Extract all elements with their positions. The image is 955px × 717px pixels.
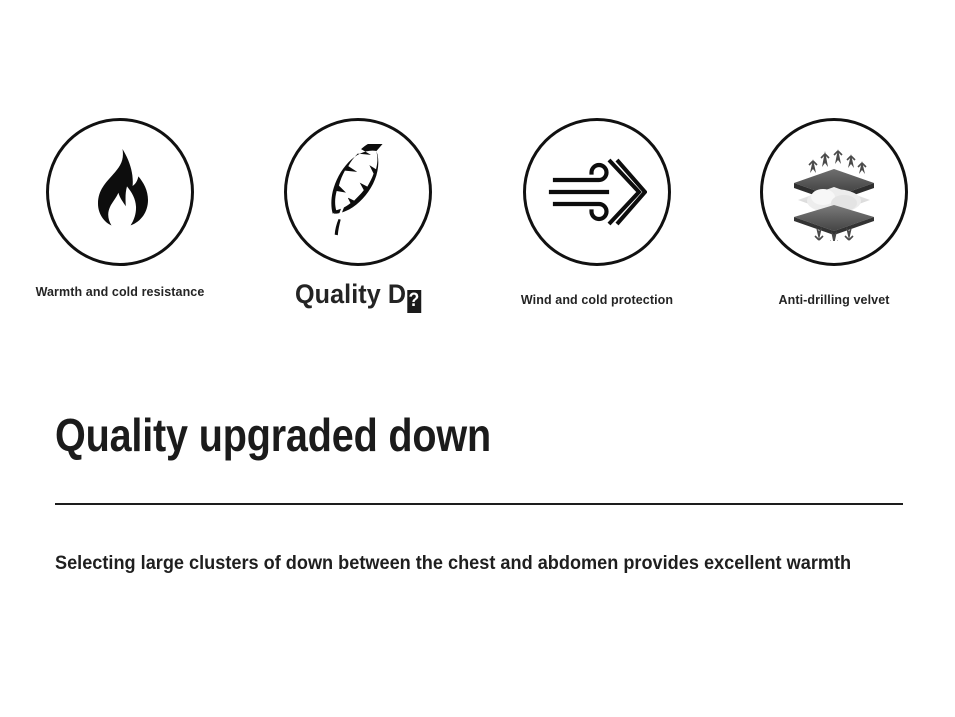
feature-label: Warmth and cold resistance: [30, 284, 210, 301]
flame-icon: [81, 147, 159, 237]
page-title: Quality upgraded down: [55, 408, 491, 462]
feature-icon-circle: [523, 118, 671, 266]
feature-icon-row: Warmth and cold resistance Quality D?: [0, 118, 955, 348]
feature-icon-circle: [284, 118, 432, 266]
feature-label: Quality D?: [256, 276, 461, 313]
layered-fabric-icon: [786, 143, 882, 241]
feature-item-anti-drilling: Anti-drilling velvet: [734, 118, 934, 309]
feature-item-warmth: Warmth and cold resistance: [20, 118, 220, 301]
feature-item-windproof: Wind and cold protection: [497, 118, 697, 309]
feather-icon: [316, 144, 400, 240]
wind-icon: [547, 142, 647, 242]
body-paragraph: Selecting large clusters of down between…: [55, 552, 851, 575]
promo-page: Warmth and cold resistance Quality D?: [0, 0, 955, 717]
feature-label: Anti-drilling velvet: [744, 292, 924, 309]
feature-icon-circle: [46, 118, 194, 266]
horizontal-rule: [55, 503, 903, 505]
feature-item-quality-down: Quality D?: [258, 118, 458, 313]
missing-glyph-box: ?: [407, 290, 421, 313]
feature-icon-circle: [760, 118, 908, 266]
feature-label-text: Quality D: [295, 279, 406, 309]
feature-label: Wind and cold protection: [507, 292, 687, 309]
